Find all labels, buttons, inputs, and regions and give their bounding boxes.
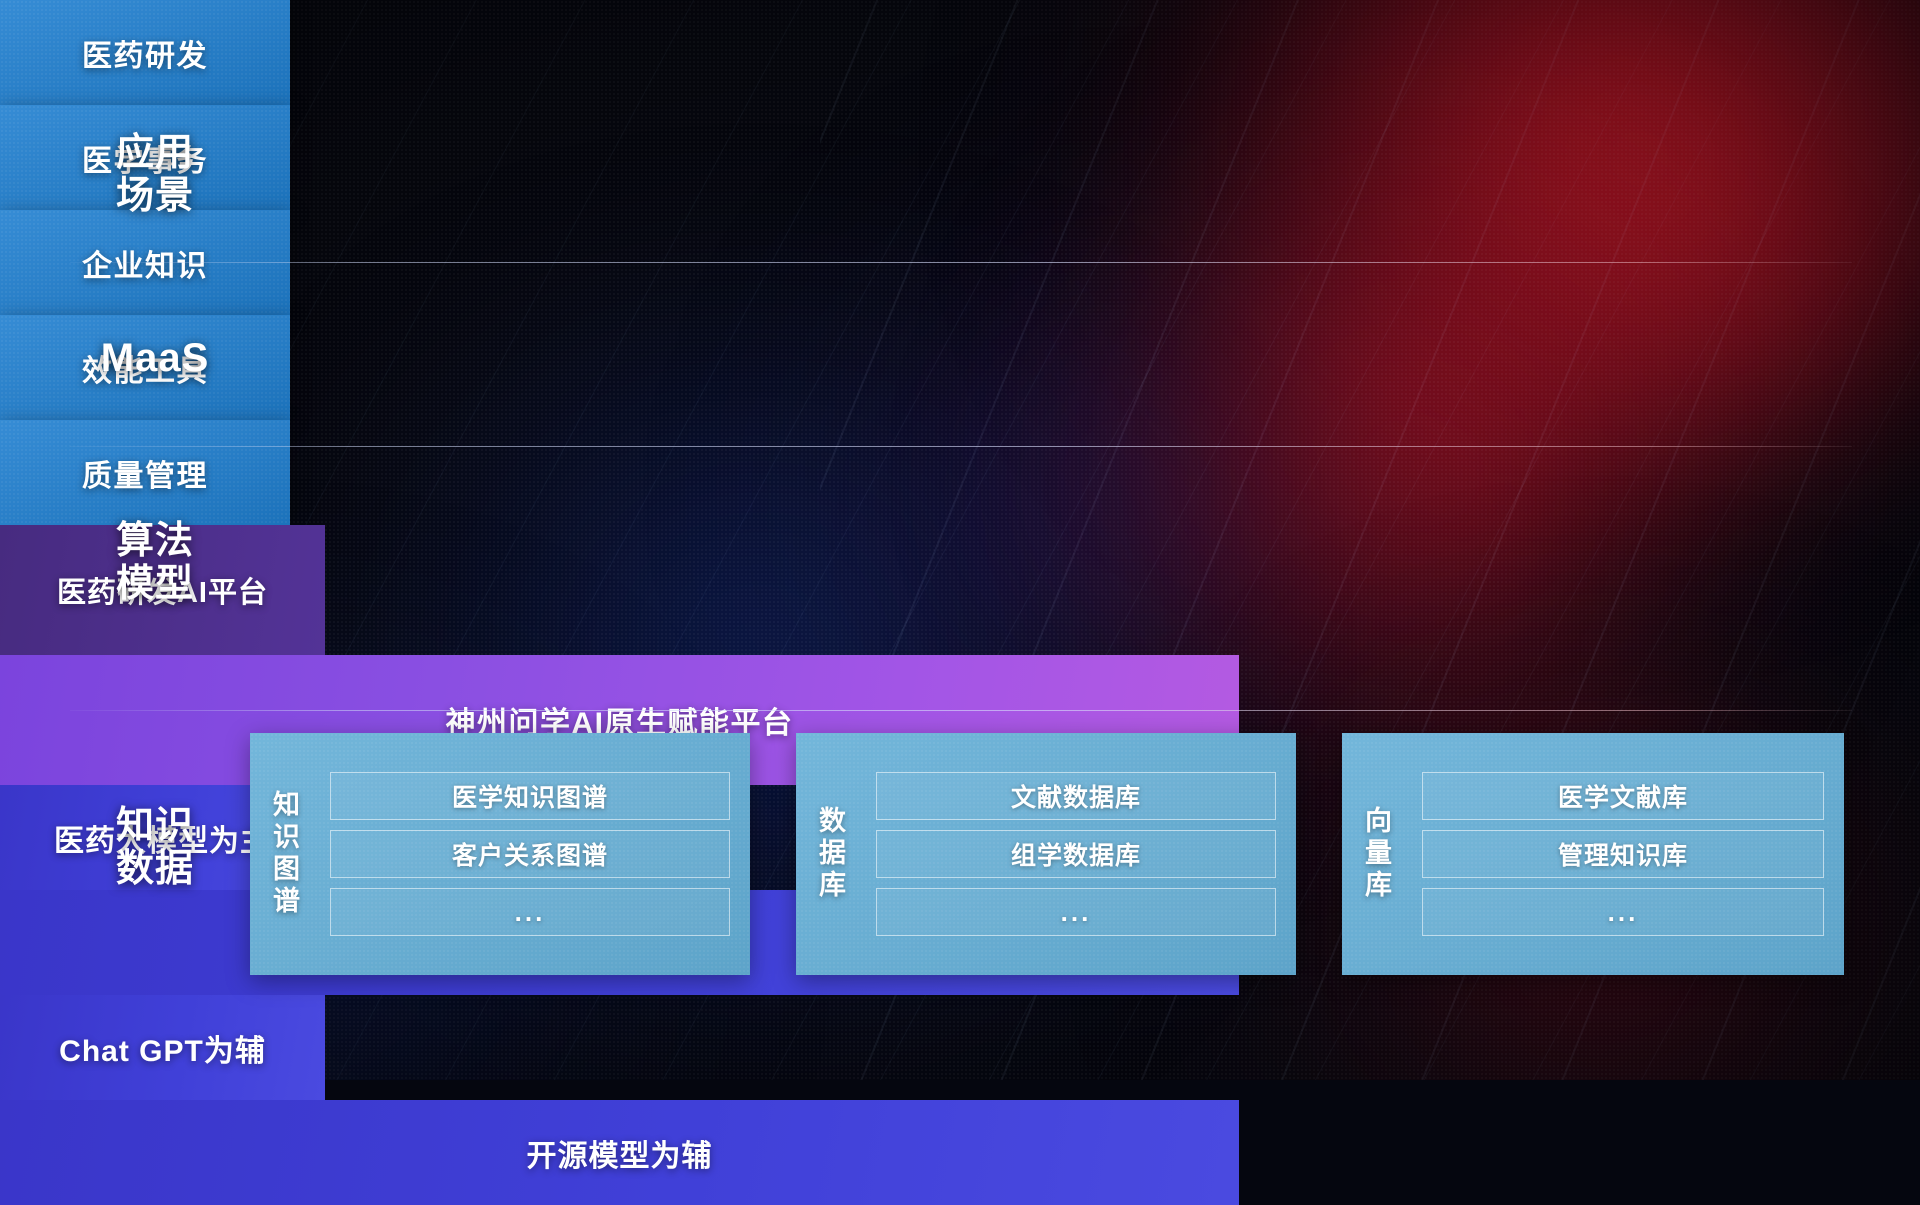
app-scenario-box-1[interactable]: 医药研发: [0, 0, 290, 105]
divider-3: [70, 710, 1852, 711]
knowledge-item[interactable]: 组学数据库: [876, 830, 1276, 878]
side-label-char: 据: [819, 838, 847, 870]
knowledge-group-side-label: 数 据 库: [796, 806, 870, 902]
side-label-char: 库: [819, 870, 847, 902]
side-label-char: 数: [819, 806, 847, 838]
knowledge-item[interactable]: 医学文献库: [1422, 772, 1824, 820]
knowledge-group-side-label: 知 识 图 谱: [250, 790, 324, 917]
knowledge-group-side-label: 向 量 库: [1342, 806, 1416, 902]
knowledge-item-more[interactable]: ...: [876, 888, 1276, 936]
side-label-char: 库: [1365, 870, 1393, 902]
row-label-line: 场景: [60, 175, 250, 218]
row-label-line: 算法: [60, 520, 250, 563]
algo-box-chatgpt-secondary[interactable]: Chat GPT为辅: [0, 995, 325, 1100]
row-label-line: 知识: [60, 805, 250, 848]
knowledge-group-items: 文献数据库 组学数据库 ...: [870, 758, 1296, 950]
algo-box-opensource-secondary[interactable]: 开源模型为辅: [0, 1100, 1239, 1205]
row-label-line: 数据: [60, 848, 250, 891]
knowledge-item-more[interactable]: ...: [330, 888, 730, 936]
side-label-char: 知: [273, 790, 301, 822]
app-scenario-label: 医药研发: [82, 31, 208, 75]
divider-1: [70, 262, 1852, 263]
knowledge-group-items: 医学文献库 管理知识库 ...: [1416, 758, 1844, 950]
knowledge-item[interactable]: 客户关系图谱: [330, 830, 730, 878]
knowledge-item-more[interactable]: ...: [1422, 888, 1824, 936]
algo-box-label: Chat GPT为辅: [59, 1026, 266, 1070]
app-scenario-box-5[interactable]: 质量管理: [0, 420, 290, 525]
row-label-line: 模型: [60, 563, 250, 606]
knowledge-group-items: 医学知识图谱 客户关系图谱 ...: [324, 758, 750, 950]
divider-2: [70, 446, 1852, 447]
row-label-line: MaaS: [60, 336, 250, 381]
row-label-knowledge-data: 知识 数据: [60, 805, 250, 890]
app-scenario-label: 质量管理: [82, 451, 208, 495]
side-label-char: 量: [1365, 838, 1393, 870]
knowledge-group-database[interactable]: 数 据 库 文献数据库 组学数据库 ...: [796, 733, 1296, 975]
side-label-char: 图: [273, 854, 301, 886]
algo-box-label: 开源模型为辅: [527, 1131, 713, 1175]
knowledge-item[interactable]: 管理知识库: [1422, 830, 1824, 878]
row-label-maas: MaaS: [60, 336, 250, 381]
diagram-stage: 应用 场景 医药研发 医学事务 企业知识 效能工具 质量管理 MaaS 医药研发…: [0, 0, 1920, 1080]
row-label-line: 应用: [60, 132, 250, 175]
side-label-char: 识: [273, 822, 301, 854]
knowledge-group-vector-store[interactable]: 向 量 库 医学文献库 管理知识库 ...: [1342, 733, 1844, 975]
side-label-char: 谱: [273, 886, 301, 918]
knowledge-group-knowledge-graph[interactable]: 知 识 图 谱 医学知识图谱 客户关系图谱 ...: [250, 733, 750, 975]
row-label-application-scenarios: 应用 场景: [60, 132, 250, 217]
row-label-algorithm-models: 算法 模型: [60, 520, 250, 605]
knowledge-item[interactable]: 文献数据库: [876, 772, 1276, 820]
knowledge-item[interactable]: 医学知识图谱: [330, 772, 730, 820]
side-label-char: 向: [1365, 806, 1393, 838]
